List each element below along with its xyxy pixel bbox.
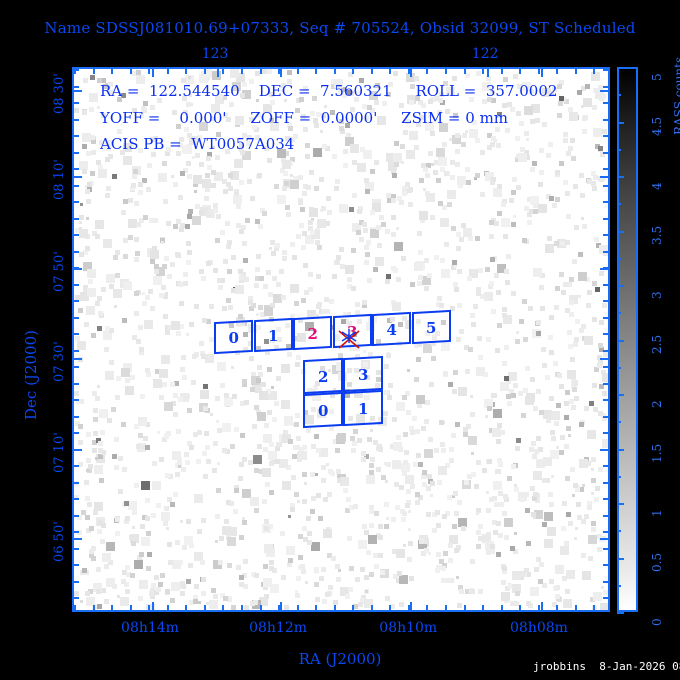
acis-chip-label-s4: 4 [387,321,397,339]
info-line-offsets: YOFF = 0.000' ZOFF = 0.0000' ZSIM = 0 mm [100,109,508,127]
info-line-ra-dec-roll: RA = 122.544540 DEC = 7.560321 ROLL = 35… [100,82,557,100]
colorbar-tick-label: 3.5 [650,225,664,244]
acis-chip-label-s1: 1 [268,327,278,345]
colorbar-tick-label: 1 [650,509,664,517]
acis-chip-label-i2: 0 [318,402,328,420]
colorbar-tick-label: 0.5 [650,552,664,571]
acis-chip-label-s2: 2 [308,325,318,343]
y-tick-label: 08 30' [52,73,67,114]
colorbar-minor-tick [617,149,621,151]
y-tick-label: 08 10' [52,160,67,201]
colorbar-tick-label: 4 [650,182,664,190]
colorbar-minor-tick [617,203,621,205]
colorbar-minor-tick [617,367,621,369]
y-tick-label: 07 10' [52,432,67,473]
colorbar-minor-tick [617,476,621,478]
acis-chip-label-i1: 3 [358,366,368,384]
top-tick-label: 123 [190,46,240,62]
colorbar-minor-tick [617,312,621,314]
y-tick-label: 06 50' [52,521,67,562]
colorbar-title: RASS counts [672,57,680,135]
colorbar-minor-tick [617,421,621,423]
colorbar-tick-label: 1.5 [650,443,664,462]
acis-chip-label-i3: 1 [358,400,368,418]
colorbar-minor-tick [617,67,621,69]
colorbar-tick-label: 0 [650,618,664,626]
x-tick-label: 08h08m [507,620,571,636]
acis-chip-label-s0: 0 [229,329,239,347]
credit-stamp: jrobbins 8-Jan-2026 08:36 [533,660,680,673]
y-tick-label: 07 50' [52,251,67,292]
colorbar-minor-tick [617,503,621,505]
colorbar-tick-label: 5 [650,73,664,81]
colorbar-minor-tick [617,231,621,233]
colorbar-minor-tick [617,585,621,587]
colorbar-minor-tick [617,449,621,451]
colorbar-minor-tick [617,394,621,396]
page-title: Name SDSSJ081010.69+07333, Seq # 705524,… [0,19,680,37]
colorbar-minor-tick [617,94,621,96]
y-tick-label: 07 30' [52,341,67,382]
colorbar-tick-label: 3 [650,291,664,299]
x-tick-label: 08h12m [246,620,310,636]
colorbar-tick-label: 2.5 [650,334,664,353]
x-tick-label: 08h10m [376,620,440,636]
colorbar-tick-label: 2 [650,400,664,408]
colorbar-minor-tick [617,176,621,178]
colorbar-minor-tick [617,340,621,342]
y-axis-title: Dec (J2000) [22,330,40,420]
colorbar-minor-tick [617,558,621,560]
acis-chip-label-s5: 5 [426,319,436,337]
acis-chip-label-i0: 2 [318,368,328,386]
sky-field-plot: RA = 122.544540 DEC = 7.560321 ROLL = 35… [72,67,610,612]
colorbar-tick-label: 4.5 [650,116,664,135]
target-x-marker [336,327,362,351]
colorbar-minor-tick [617,285,621,287]
x-tick-label: 08h14m [118,620,182,636]
colorbar-minor-tick [617,258,621,260]
top-tick-label: 122 [460,46,510,62]
colorbar-minor-tick [617,612,621,614]
colorbar-minor-tick [617,122,621,124]
info-line-acis-pb: ACIS PB = WT0057A034 [100,135,294,153]
chandra-field-chart: Name SDSSJ081010.69+07333, Seq # 705524,… [0,0,680,680]
colorbar-minor-tick [617,530,621,532]
